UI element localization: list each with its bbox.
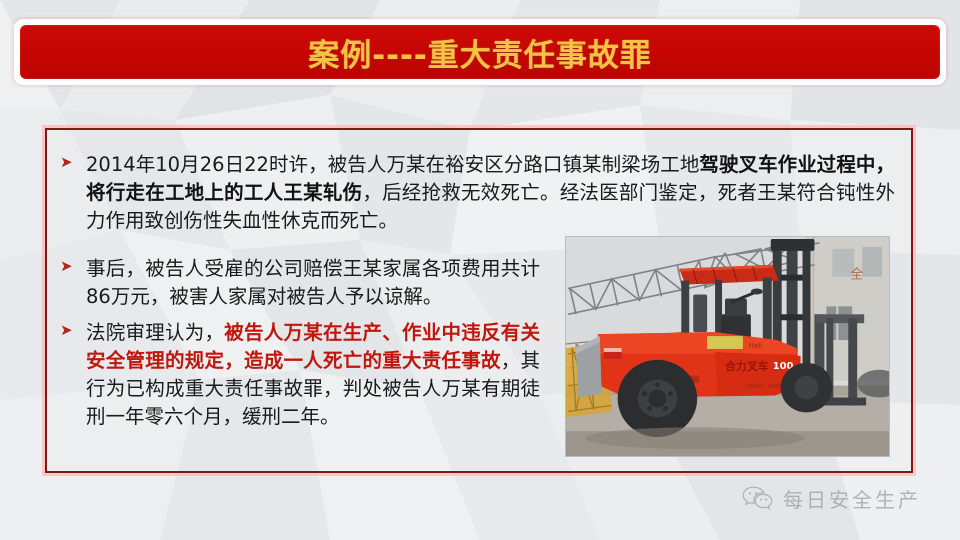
arrow-bullet-icon: ➤ [60, 255, 86, 274]
svg-text:Heli: Heli [749, 342, 762, 350]
svg-text:合力叉车: 合力叉车 [725, 359, 769, 373]
wechat-icon [742, 485, 774, 513]
paragraph-2-text: 事后，被告人受雇的公司赔偿王某家属各项费用共计86万元，被害人家属对被告人予以谅… [86, 255, 540, 311]
paragraph-3-text: 法院审理认为，被告人万某在生产、作业中违反有关安全管理的规定，造成一人死亡的重大… [86, 319, 540, 431]
forklift-photo: 全 [565, 236, 890, 457]
arrow-bullet-icon: ➤ [60, 319, 86, 338]
slide-canvas: 案例----重大责任事故罪 ➤ 2014年10月26日22时许，被告人万某在裕安… [0, 0, 960, 540]
bullet-paragraph-1: ➤ 2014年10月26日22时许，被告人万某在裕安区分路口镇某制梁场工地驾驶叉… [60, 151, 895, 235]
page-title: 案例----重大责任事故罪 [308, 30, 651, 75]
watermark-label: 每日安全生产 [783, 484, 921, 513]
forklift-photo-graphic: 全 [566, 237, 889, 456]
bullet-paragraph-3: ➤ 法院审理认为，被告人万某在生产、作业中违反有关安全管理的规定，造成一人死亡的… [60, 319, 540, 431]
para3-run-0: 法院审理认为， [86, 321, 224, 344]
para2-run-0: 事后，被告人受雇的公司赔偿王某家属各项费用共计86万元，被害人家属对被告人予以谅… [86, 257, 540, 308]
arrow-bullet-icon: ➤ [60, 151, 86, 170]
watermark: 每日安全生产 [742, 484, 921, 513]
svg-text:全: 全 [850, 267, 863, 283]
paragraph-1-text: 2014年10月26日22时许，被告人万某在裕安区分路口镇某制梁场工地驾驶叉车作… [86, 151, 895, 235]
bullet-paragraph-2: ➤ 事后，被告人受雇的公司赔偿王某家属各项费用共计86万元，被害人家属对被告人予… [60, 255, 540, 311]
slide-title-banner: 案例----重大责任事故罪 [14, 19, 946, 85]
para1-run-0: 2014年10月26日22时许，被告人万某在裕安区分路口镇某制梁场工地 [86, 153, 699, 176]
slide-title-inner: 案例----重大责任事故罪 [20, 25, 940, 79]
